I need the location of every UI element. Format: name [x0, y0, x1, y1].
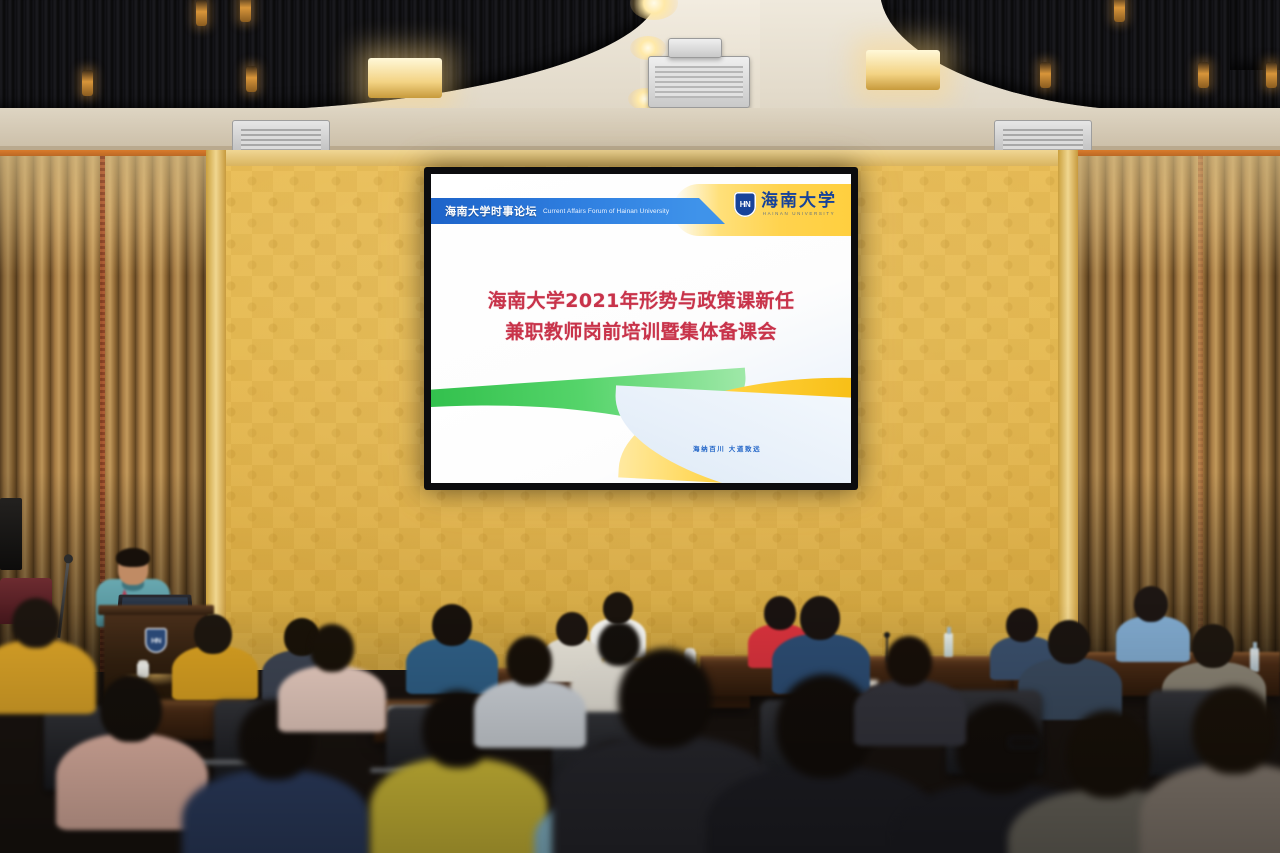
curtain-right	[1072, 156, 1280, 672]
wall-ac-unit-left	[232, 120, 330, 152]
attendee-shoulders	[0, 640, 96, 714]
attendee-mid-10	[876, 636, 942, 730]
attendee-front-left-1	[2, 598, 72, 694]
wall-pilaster-left	[206, 150, 226, 670]
slide-title-line-2: 兼职教师岗前培训暨集体备课会	[431, 317, 851, 348]
slide-header-banner: 海南大学时事论坛 Current Affairs Forum of Hainan…	[431, 198, 699, 224]
pendant-light-1	[196, 0, 207, 26]
attendee-head	[603, 592, 633, 624]
ceiling	[0, 0, 1280, 152]
attendee-shoulders	[854, 680, 966, 746]
attendee-head	[12, 598, 60, 648]
attendee-head	[194, 614, 232, 654]
attendee-shoulders	[1116, 616, 1190, 662]
slide-banner-en-text: Current Affairs Forum of Hainan Universi…	[543, 208, 669, 215]
attendee-shoulders	[172, 646, 258, 700]
attendee-head	[1048, 620, 1090, 664]
pendant-light-2	[240, 0, 251, 22]
ceiling-panel-far-right	[1230, 0, 1280, 70]
shield-monogram: HN	[740, 200, 751, 209]
hainan-university-logo: HN 海南大学 HAINAN UNIVERSITY	[734, 192, 837, 217]
projection-screen-frame: 海南大学时事论坛 Current Affairs Forum of Hainan…	[424, 167, 858, 490]
podium-shield-icon: HN	[145, 628, 167, 653]
slide-title: 海南大学2021年形势与政策课新任 兼职教师岗前培训暨集体备课会	[431, 286, 851, 349]
ac-louvres	[655, 66, 743, 98]
wall-pilaster-right	[1058, 150, 1078, 670]
attendee-head	[506, 636, 552, 686]
water-bottle-1	[944, 633, 953, 657]
attendee-mid-5	[790, 596, 850, 682]
pendant-light-8	[1266, 62, 1277, 88]
ac-cassette-unit	[648, 56, 750, 108]
attendee-front-right-3	[1176, 686, 1280, 853]
lecture-hall-photo: 海南大学时事论坛 Current Affairs Forum of Hainan…	[0, 0, 1280, 853]
eyeglasses-icon	[1008, 736, 1038, 749]
attendee-mid-1	[186, 614, 242, 692]
slide-banner-cn-text: 海南大学时事论坛	[445, 203, 537, 219]
slide-title-line-1: 海南大学2021年形势与政策课新任	[431, 286, 851, 317]
pendant-light-3	[82, 70, 93, 96]
attendee-head	[886, 636, 932, 686]
attendee-mid-8	[300, 624, 364, 716]
attendee-shoulders	[182, 770, 370, 853]
attendee-head	[310, 624, 354, 672]
attendee-head	[800, 596, 840, 640]
curtain-left-highlight	[0, 156, 214, 276]
logo-text-block: 海南大学 HAINAN UNIVERSITY	[761, 193, 837, 216]
attendee-head	[1006, 608, 1038, 642]
ceiling-lamp-right	[866, 50, 940, 90]
attendee-shoulders	[370, 758, 548, 853]
pendant-light-6	[1040, 62, 1051, 88]
slide-motto-text: 海纳百川 大道致远	[693, 443, 761, 453]
pendant-light-7	[1198, 62, 1209, 88]
ceiling-lamp-left	[368, 58, 442, 98]
attendee-head-table-4	[1128, 586, 1176, 652]
attendee-shoulders	[406, 638, 498, 694]
wall-ac-unit-right	[994, 120, 1092, 152]
attendee-mid-2	[424, 604, 480, 684]
attendee-head	[1134, 586, 1168, 622]
attendee-head	[618, 648, 712, 748]
wall-speaker-box	[0, 498, 22, 570]
attendee-head	[432, 604, 472, 646]
attendee-head	[1192, 624, 1234, 668]
presenter-hair	[116, 548, 150, 567]
pendant-light-4	[246, 66, 257, 92]
curtain-right-highlight	[1072, 156, 1280, 276]
attendee-head	[1192, 686, 1276, 774]
pendant-light-5	[1114, 0, 1125, 22]
logo-cn-text: 海南大学	[761, 193, 837, 210]
attendee-head	[1066, 710, 1150, 798]
attendee-front-left-2	[86, 676, 178, 806]
attendee-shoulders	[474, 680, 586, 748]
ac-unit-small	[668, 38, 722, 58]
attendee-mid-9	[496, 636, 562, 732]
logo-en-text: HAINAN UNIVERSITY	[761, 211, 837, 216]
attendee-shoulders	[278, 666, 386, 732]
projection-screen: 海南大学时事论坛 Current Affairs Forum of Hainan…	[431, 174, 851, 483]
podium-shield-monogram: HN	[151, 636, 161, 645]
shield-icon: HN	[734, 192, 756, 217]
attendee-head	[100, 676, 162, 742]
attendee-mid-6	[1038, 620, 1100, 708]
